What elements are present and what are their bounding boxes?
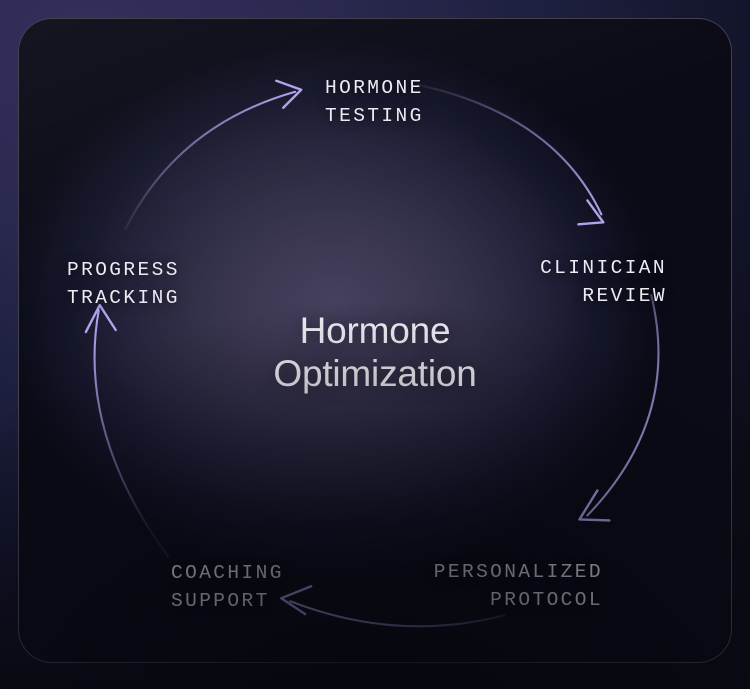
node-label-hormone-testing: HORMONE TESTING (325, 75, 424, 130)
arrow-testing-to-review (418, 85, 603, 225)
node-label-clinician-review: CLINICIAN REVIEW (540, 255, 667, 310)
node-label-coaching-support: COACHING SUPPORT (171, 560, 284, 615)
node-label-personalized-protocol: PERSONALIZED PROTOCOL (434, 559, 603, 614)
screenshot-root: Hormone Optimization HORMONE TESTING CLI… (0, 0, 750, 689)
arrow-progress-to-testing (126, 81, 302, 229)
center-title: Hormone Optimization (19, 309, 731, 396)
cycle-diagram-card: Hormone Optimization HORMONE TESTING CLI… (18, 18, 732, 663)
node-label-progress-tracking: PROGRESS TRACKING (67, 257, 180, 312)
